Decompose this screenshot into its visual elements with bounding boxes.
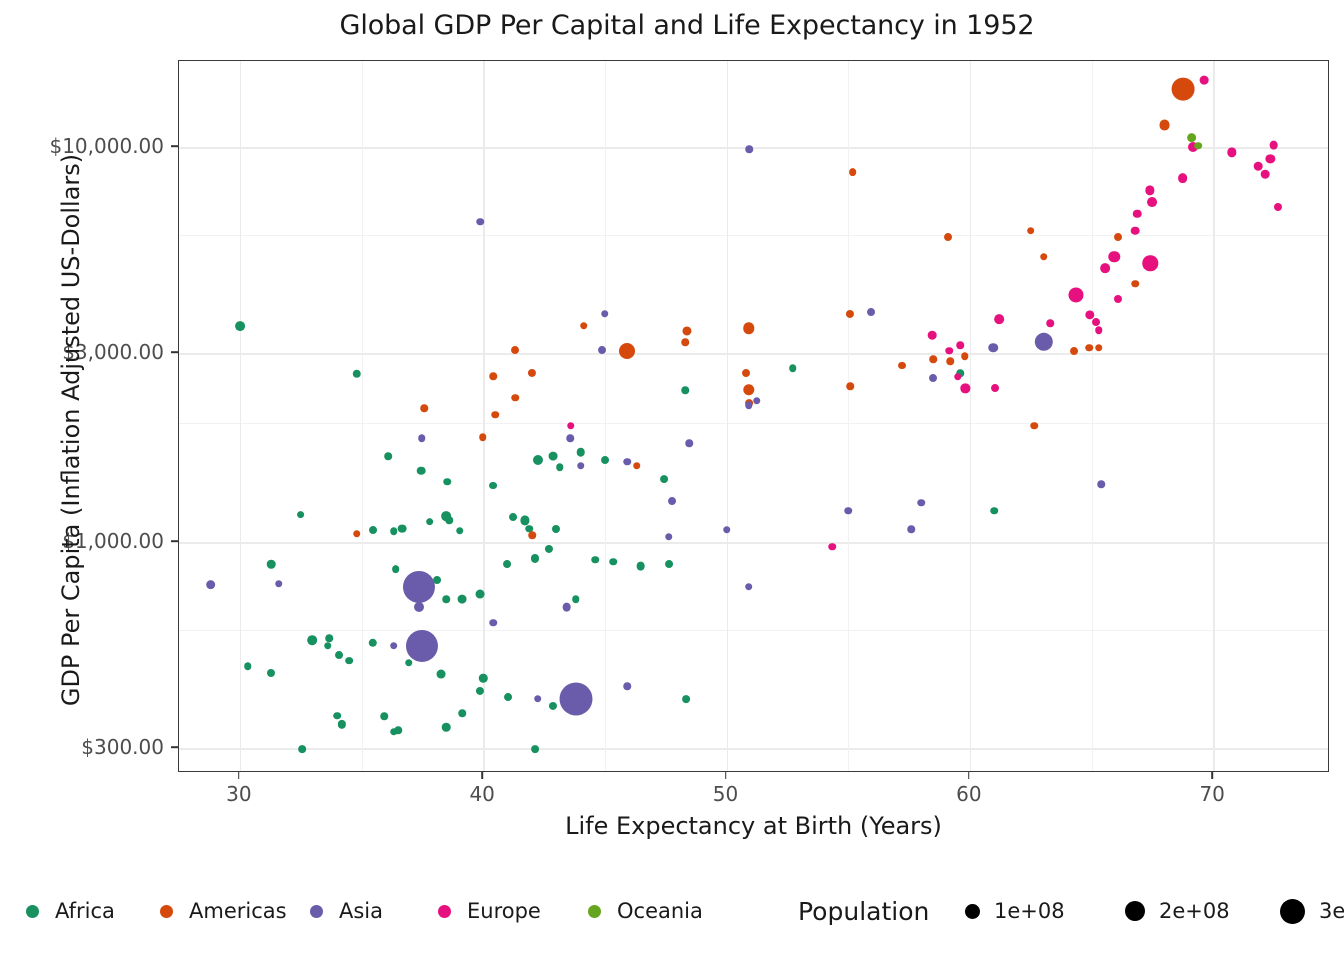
scatter-point [991,384,999,392]
legend-item-label: Americas [189,899,287,923]
scatter-point [333,712,341,720]
scatter-point [956,342,964,350]
scatter-point [746,145,754,153]
scatter-point [1261,170,1270,179]
scatter-point [665,560,673,568]
legend-area: AfricaAmericasAsiaEuropeOceania Populati… [0,878,1344,944]
scatter-point [1147,197,1157,207]
scatter-point [685,439,693,447]
scatter-point [1114,295,1122,303]
scatter-point [917,499,925,507]
scatter-point [456,527,464,535]
legend-item-label: Africa [55,899,115,923]
scatter-point [353,369,361,377]
scatter-point [1031,422,1039,430]
scatter-point [442,723,451,732]
plot-panel [178,60,1329,772]
scatter-point [668,497,676,505]
scatter-point [661,475,669,483]
scatter-point [1187,133,1197,143]
scatter-point [406,630,438,662]
x-axis-tick-mark [238,772,240,779]
scatter-point [298,745,306,753]
scatter-point [1195,142,1203,150]
scatter-point [504,693,512,701]
size-legend-label: 1e+08 [994,899,1065,923]
scatter-point [441,511,451,521]
scatter-point [405,659,413,667]
scatter-point [511,346,519,354]
scatter-point [489,482,497,490]
scatter-point [1131,226,1140,235]
scatter-point [1132,280,1140,288]
scatter-point [1159,119,1170,130]
scatter-point [619,343,635,359]
scatter-point [559,683,592,716]
x-axis-tick-mark [481,772,483,779]
scatter-point [988,343,998,353]
scatter-point [567,422,575,430]
legend-item-oceania[interactable]: Oceania [588,878,703,944]
size-legend-bubble-icon [1125,901,1145,921]
gridline-major-horizontal [179,353,1328,355]
legend-item-label: Oceania [617,899,703,923]
scatter-point [946,347,954,355]
scatter-point [849,168,857,176]
scatter-point [1269,141,1278,150]
scatter-point [503,560,511,568]
scatter-point [545,545,553,553]
scatter-point [1171,78,1194,101]
x-axis-tick-label: 30 [226,782,251,806]
scatter-point [745,583,753,591]
gridline-minor-horizontal [179,630,1328,631]
scatter-point [681,339,689,347]
scatter-point [418,435,426,443]
size-legend-item-0[interactable]: 1e+08 [965,878,1065,944]
scatter-point [1114,233,1122,241]
scatter-point [529,532,537,540]
scatter-point [1095,344,1103,352]
scatter-point [623,683,631,691]
scatter-point [633,462,641,470]
x-axis-tick-mark [725,772,727,779]
legend-color-swatch-icon [588,905,601,918]
gridline-major-vertical [240,61,242,771]
scatter-point [244,662,252,670]
scatter-point [928,331,937,340]
scatter-point [1101,263,1111,273]
scatter-point [549,452,558,461]
legend-color-swatch-icon [26,905,39,918]
x-axis-tick-label: 60 [956,782,981,806]
scatter-point [623,458,631,466]
scatter-point [954,373,962,381]
scatter-point [353,530,361,538]
scatter-point [1040,253,1048,261]
scatter-point [479,674,487,682]
scatter-point [844,507,852,515]
scatter-point [511,394,519,402]
scatter-point [990,507,998,515]
size-legend-label: 3e+0 [1319,899,1344,923]
scatter-point [577,462,585,470]
scatter-point [297,511,305,519]
scatter-point [743,322,754,333]
scatter-point [636,562,645,571]
gridline-major-horizontal [179,147,1328,149]
scatter-point [489,372,497,380]
y-axis-label: GDP Per Capita (Inflation Adjusted US-Do… [57,74,85,786]
x-axis-label: Life Expectancy at Birth (Years) [178,812,1329,840]
legend-item-europe[interactable]: Europe [438,878,541,944]
x-axis-tick-mark [968,772,970,779]
gridline-minor-horizontal [179,235,1328,236]
scatter-point [531,745,539,753]
scatter-point [1266,154,1275,163]
scatter-point [528,369,536,377]
x-axis-tick-mark [1211,772,1213,779]
gridline-minor-vertical [605,61,606,771]
gridline-major-vertical [1213,61,1215,771]
scatter-point [682,326,691,335]
scatter-point [947,358,955,366]
scatter-point [682,695,690,703]
scatter-point [1254,162,1263,171]
legend-color-swatch-icon [310,905,323,918]
scatter-point [443,595,451,603]
scatter-point [828,543,836,551]
scatter-point [235,321,245,331]
scatter-point [476,589,485,598]
scatter-point [580,322,588,330]
chart-title: Global GDP Per Capital and Life Expectan… [0,10,1344,41]
scatter-point [1098,480,1106,488]
scatter-point [846,310,854,318]
scatter-point [1085,344,1093,352]
gridline-major-vertical [970,61,972,771]
size-legend-title: Population [798,878,929,944]
scatter-point [1092,318,1100,326]
scatter-point [509,513,517,521]
scatter-point [994,314,1004,324]
scatter-point [403,570,435,602]
scatter-point [392,565,400,573]
scatter-point [458,710,466,718]
scatter-point [417,466,426,475]
scatter-point [1142,256,1157,271]
scatter-point [368,638,376,646]
y-axis-tick-mark [171,747,178,749]
scatter-point [479,434,487,442]
size-legend-item-1[interactable]: 2e+08 [1125,878,1230,944]
scatter-point [492,411,500,419]
scatter-point [610,558,618,566]
y-axis-tick-mark [171,145,178,147]
legend-color-swatch-icon [438,905,451,918]
x-axis-tick-label: 50 [713,782,738,806]
scatter-point [1178,173,1188,183]
gridline-minor-vertical [362,61,363,771]
scatter-point [847,382,855,390]
scatter-point [1068,288,1083,303]
scatter-point [567,434,575,442]
size-legend-item-2[interactable]: 3e+0 [1280,878,1344,944]
legend-item-americas[interactable]: Americas [160,878,287,944]
scatter-point [944,233,952,241]
scatter-point [275,580,283,588]
scatter-point [267,669,275,677]
scatter-point [398,524,407,533]
scatter-point [665,533,673,541]
scatter-point [723,526,731,534]
scatter-point [1200,76,1209,85]
scatter-point [267,560,276,569]
scatter-point [533,455,543,465]
gridline-major-horizontal [179,542,1328,544]
scatter-point [742,369,750,377]
scatter-point [552,525,560,533]
scatter-point [562,603,571,612]
legend-item-africa[interactable]: Africa [26,878,115,944]
scatter-point [753,397,761,405]
scatter-point [414,602,424,612]
scatter-point [1133,210,1142,219]
scatter-point [384,453,392,461]
scatter-point [324,642,332,650]
scatter-point [556,463,564,471]
scatter-point [576,448,585,457]
legend-item-label: Asia [339,899,383,923]
scatter-point [929,374,937,382]
scatter-point [426,518,434,526]
scatter-point [477,218,485,226]
scatter-point [601,456,609,464]
scatter-point [961,384,970,393]
scatter-point [443,478,451,486]
scatter-point [961,353,969,361]
scatter-point [743,384,754,395]
scatter-point [745,402,753,410]
scatter-point [1095,327,1103,335]
size-legend-label: 2e+08 [1159,899,1230,923]
scatter-point [1228,148,1237,157]
gridline-minor-horizontal [179,423,1328,424]
scatter-point [206,580,216,590]
scatter-point [390,528,398,536]
gridline-major-vertical [483,61,485,771]
scatter-point [308,636,318,646]
scatter-point [335,651,343,659]
scatter-point [1274,203,1282,211]
scatter-point [601,310,609,318]
x-axis-tick-label: 70 [1199,782,1224,806]
scatter-point [530,554,538,562]
legend-item-asia[interactable]: Asia [310,878,383,944]
gridline-major-horizontal [179,748,1328,750]
scatter-point [572,596,580,604]
scatter-point [681,386,689,394]
scatter-point [930,356,938,364]
scatter-point [1027,227,1035,235]
scatter-point [598,346,606,354]
gridline-minor-vertical [1092,61,1093,771]
scatter-point [390,642,398,650]
scatter-point [898,362,906,370]
scatter-point [534,695,542,703]
scatter-point [1146,186,1155,195]
gridline-major-vertical [727,61,729,771]
scatter-point [867,308,875,316]
scatter-point [380,712,388,720]
scatter-point [421,404,429,412]
scatter-point [437,669,446,678]
legend-color-swatch-icon [160,905,173,918]
size-legend-bubble-icon [965,904,980,919]
scatter-point [591,556,599,564]
scatter-point [789,365,797,373]
size-legend-bubble-icon [1280,899,1305,924]
y-axis-tick-mark [171,540,178,542]
scatter-point [549,702,557,710]
scatter-point [521,516,530,525]
scatter-point [345,657,353,665]
scatter-point [1070,347,1078,355]
scatter-point [338,720,346,728]
scatter-point [1046,319,1054,327]
scatter-point [369,526,377,534]
scatter-point [326,634,334,642]
x-axis-tick-label: 40 [469,782,494,806]
scatter-point [1109,251,1120,262]
gridline-minor-vertical [848,61,849,771]
scatter-point [907,525,915,533]
scatter-point [395,726,403,734]
y-axis-tick-mark [171,352,178,354]
scatter-point [458,595,467,604]
scatter-point [1034,332,1052,350]
scatter-point [489,619,497,627]
legend-item-label: Europe [467,899,541,923]
